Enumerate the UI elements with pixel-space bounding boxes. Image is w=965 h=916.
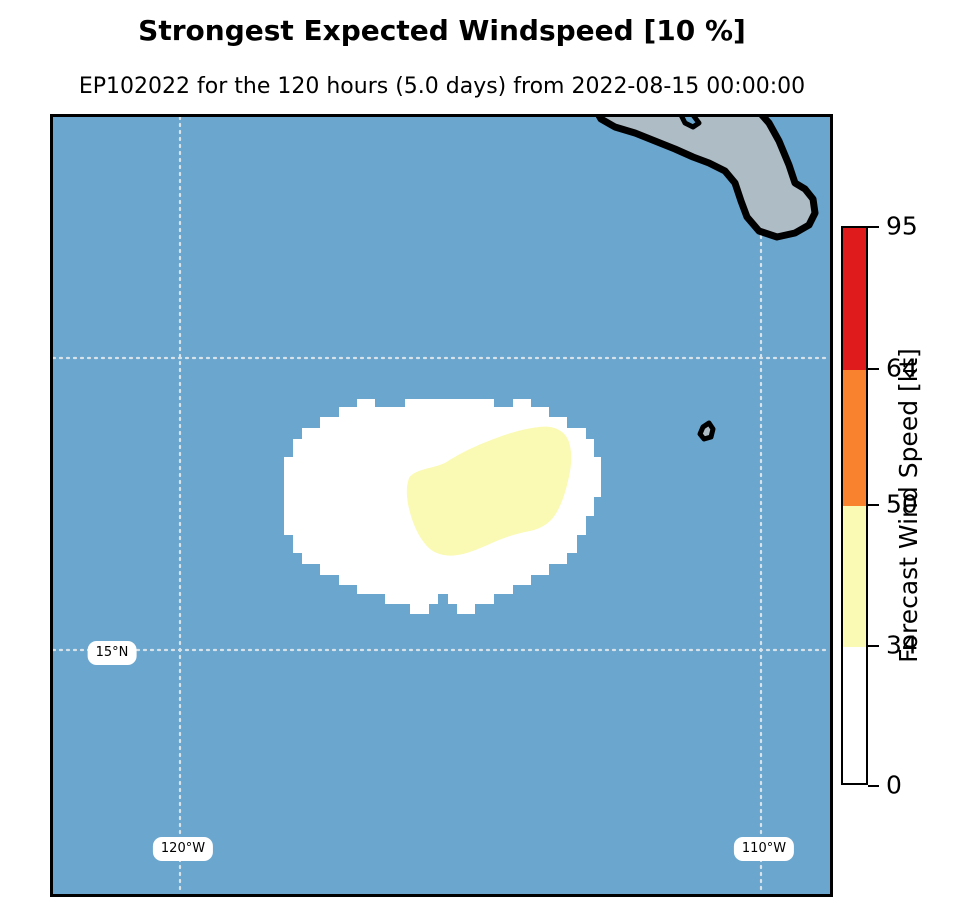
colorbar-segment-0-34 <box>843 647 866 785</box>
gridline-label-120W: 120°W <box>153 837 213 861</box>
colorbar-tick-50 <box>868 504 879 506</box>
colorbar-gradient <box>841 226 868 785</box>
colorbar-axis-label: Forecast Wind Speed [kt] <box>895 226 922 785</box>
island-socorro <box>700 423 713 439</box>
colorbar-segment-50-64 <box>843 370 866 506</box>
landmass-baja-california <box>593 117 815 237</box>
gridline-label-15N: 15°N <box>88 641 137 665</box>
map-axes[interactable]: 15°N 120°W 110°W <box>50 114 833 897</box>
map-graphics <box>53 117 830 894</box>
colorbar-tick-64 <box>868 368 879 370</box>
gridline-label-110W: 110°W <box>734 837 794 861</box>
colorbar: 95 64 50 34 0 <box>841 226 868 785</box>
map-canvas: 15°N 120°W 110°W <box>53 117 830 894</box>
colorbar-tick-0 <box>868 785 879 787</box>
colorbar-segment-34-50 <box>843 506 866 647</box>
page-subtitle: EP102022 for the 120 hours (5.0 days) fr… <box>0 74 884 99</box>
colorbar-tick-95 <box>868 226 879 228</box>
colorbar-segment-64-95 <box>843 228 866 370</box>
colorbar-tick-34 <box>868 645 879 647</box>
forecast-figure: Strongest Expected Windspeed [10 %] EP10… <box>0 0 965 916</box>
page-title: Strongest Expected Windspeed [10 %] <box>0 14 884 47</box>
